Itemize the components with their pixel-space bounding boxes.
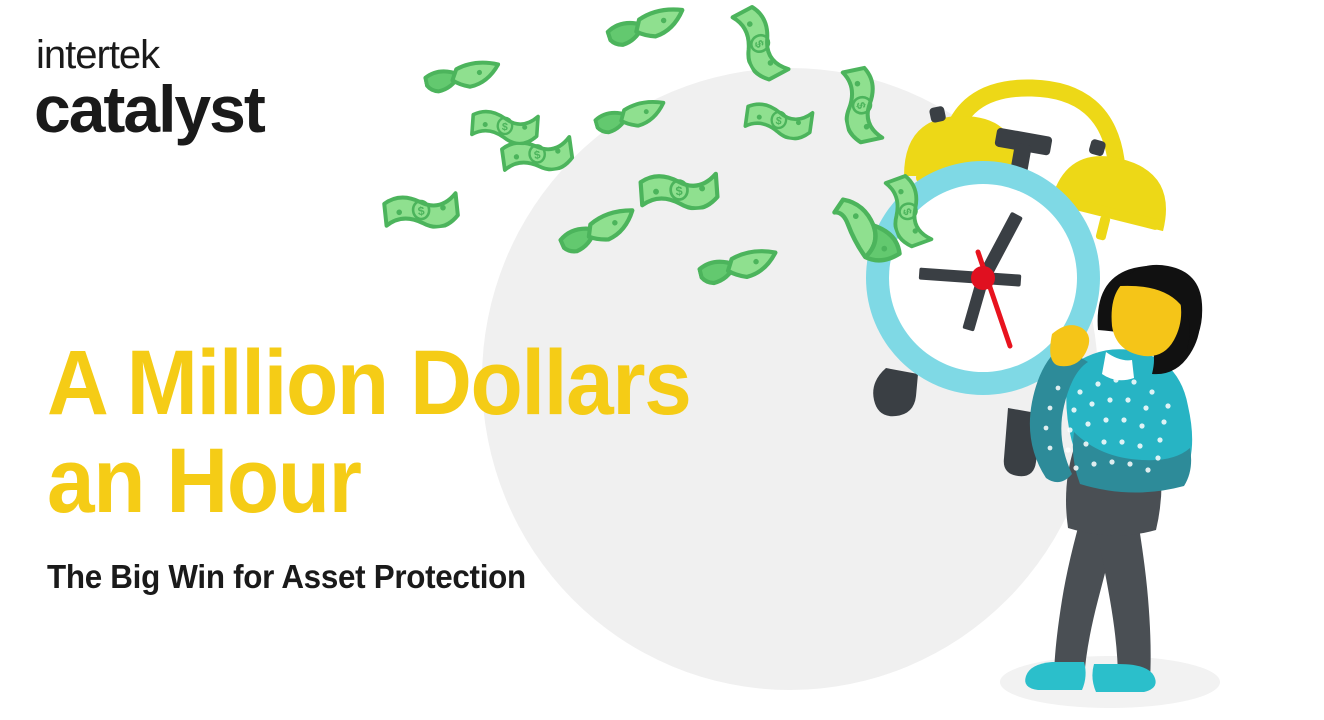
logo-catalyst-text: catalyst xyxy=(34,72,266,146)
logo-intertek-text: intertek xyxy=(36,33,161,77)
intertek-catalyst-logo[interactable]: intertek catalyst xyxy=(34,32,334,148)
headline-line-1: A Million Dollars xyxy=(47,334,754,432)
page-title: A Million Dollars an Hour xyxy=(47,334,807,530)
poster-canvas: $$$$$$$$ intertek catalyst A Million Dol… xyxy=(0,0,1324,720)
headline-line-2: an Hour xyxy=(47,432,754,530)
page-subtitle: The Big Win for Asset Protection xyxy=(47,558,526,596)
clock-center-pin xyxy=(971,266,995,290)
